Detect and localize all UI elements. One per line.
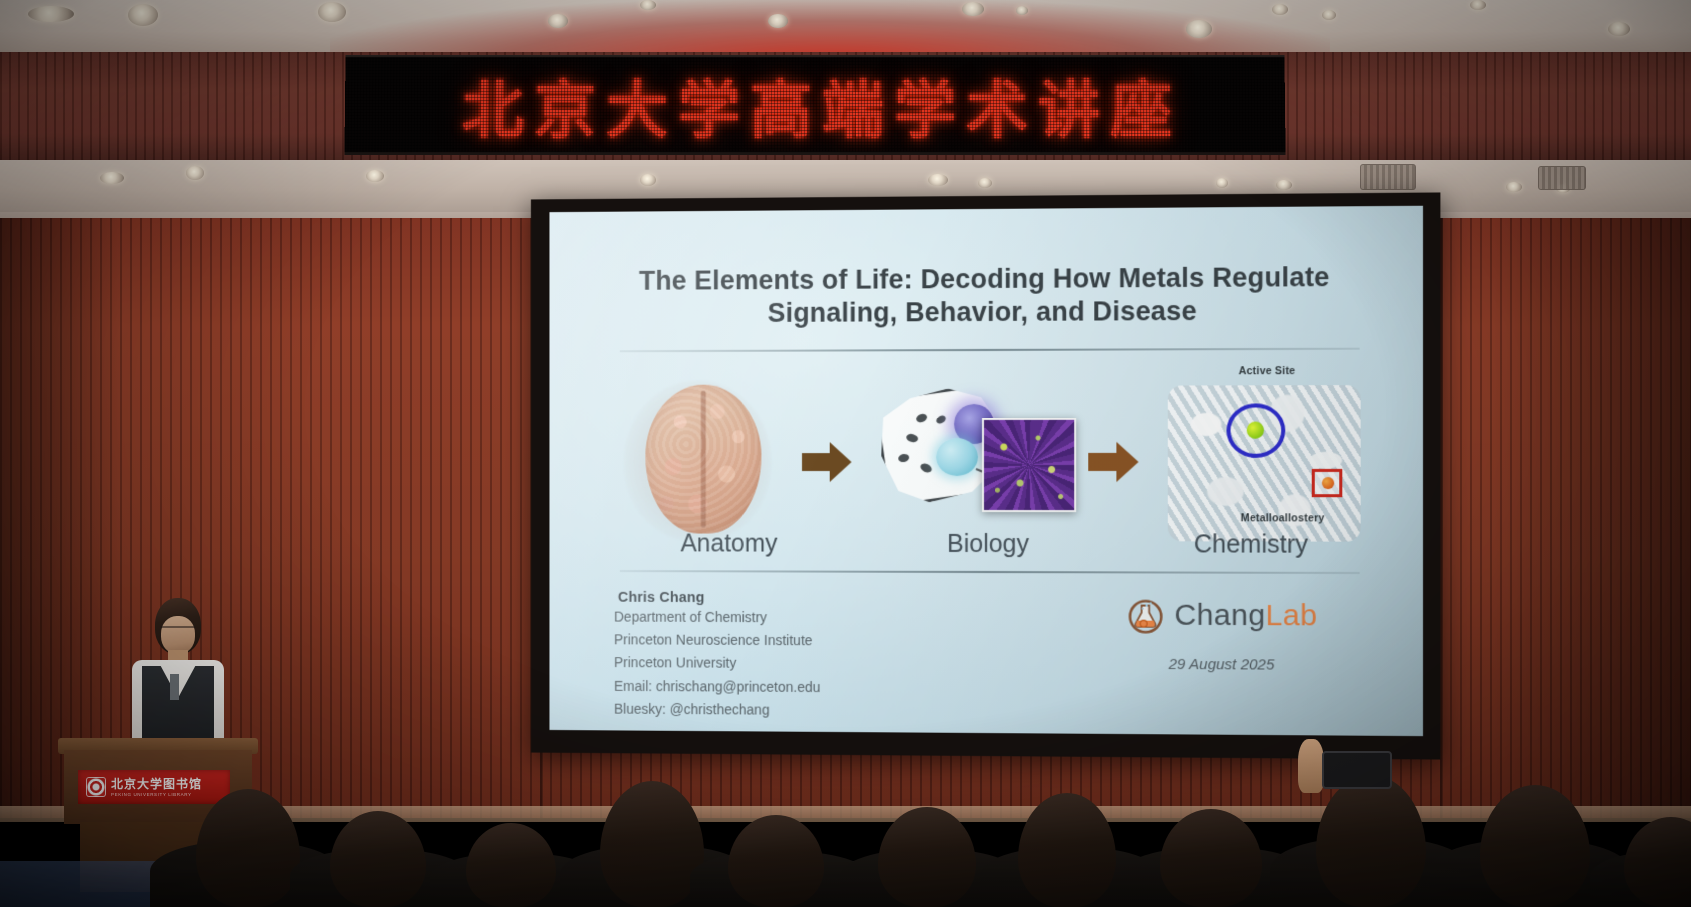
slide-title-line-1: The Elements of Life: Decoding How Metal… [587,261,1385,298]
speaker-face [161,616,195,654]
metalloallostery-label: Metalloallostery [1241,512,1325,524]
ceiling-light [28,6,74,22]
downlight [640,174,656,186]
slide-title: The Elements of Life: Decoding How Metal… [587,261,1385,331]
projected-slide: The Elements of Life: Decoding How Metal… [549,206,1423,736]
ceiling-light [768,14,788,28]
ceiling-red-glow [330,0,1330,52]
audience-head [1316,775,1426,907]
ceiling-vent [1538,166,1586,190]
ceiling-light [962,2,984,16]
speaker-email: Email: chrischang@princeton.edu [614,675,1070,701]
audience-head [1160,809,1262,907]
caption-biology: Biology [863,529,1113,558]
downlight [1276,180,1292,190]
speaker-department: Department of Chemistry [614,606,1070,631]
speaker-name: Chris Chang [614,590,1070,607]
ceiling-light [1322,10,1336,20]
audience-silhouettes [0,727,1691,907]
audience-head [878,807,976,907]
downlight [1216,178,1228,188]
brand-name-chang: Chang [1174,599,1265,633]
panel-anatomy-figure [634,375,782,549]
allosteric-metal-ion [1322,477,1334,489]
ceiling-light [1016,6,1028,15]
speaker-glasses [160,626,196,634]
downlight [186,166,204,180]
ceiling-light [640,0,656,10]
arrow-right-icon [800,438,854,486]
presentation-date: 29 August 2025 [1169,656,1275,674]
audience-head [330,811,426,907]
active-site-label: Active Site [1239,365,1296,377]
projection-screen-frame: The Elements of Life: Decoding How Metal… [531,192,1440,759]
active-site-metal-ion [1247,422,1264,439]
ceiling-light [318,2,346,22]
audience-head [728,815,824,907]
speaker-institute: Princeton Neuroscience Institute [614,629,1070,654]
downlight [928,174,948,186]
changlab-wordmark: ChangLab [1174,599,1317,634]
ceiling-vent [1360,164,1416,190]
speaker-university: Princeton University [614,652,1070,678]
ceiling-light [548,14,568,28]
brain-icon [645,385,761,534]
lab-brand-block: ChangLab 29 August 2025 [1070,587,1374,719]
changlab-logo: ChangLab [1126,595,1317,636]
raised-hand [1298,739,1324,793]
ceiling-light [128,4,158,26]
caption-anatomy: Anatomy [606,529,852,558]
arrow-right-icon [1086,437,1140,485]
led-banner-text: 北京大学高端学术讲座 [345,60,1286,150]
audience-head [1624,817,1691,907]
downlight [978,178,992,188]
ceiling-light [1272,4,1288,15]
divider-bottom [620,570,1360,574]
panel-biology-figure [872,371,1067,551]
lecture-hall-scene: 北京大学高端学术讲座 The Elements of Life: Decodin… [0,0,1691,907]
ceiling-light [1470,0,1486,10]
ceiling-light [1608,22,1630,36]
speaker-bluesky: Bluesky: @christhechang [614,698,1070,724]
brand-name-lab: Lab [1265,599,1317,632]
audience-head [1480,785,1590,907]
downlight [1506,182,1522,192]
downlight [366,170,384,182]
vesicle-icon [936,438,978,476]
audience-head [466,823,556,907]
fluorescence-micrograph [982,417,1076,511]
phone-recording [1322,751,1392,789]
audience-head [1018,793,1116,907]
downlight [100,172,124,184]
audience-head [600,781,704,907]
audience-head [196,789,300,907]
divider-top [620,348,1360,353]
speaker-tie [170,674,179,700]
slide-title-line-2: Signaling, Behavior, and Disease [587,294,1385,331]
flask-icon [1126,595,1166,635]
caption-chemistry: Chemistry [1124,530,1378,560]
led-marquee-banner: 北京大学高端学术讲座 [344,55,1285,155]
slide-footer: Chris Chang Department of Chemistry Prin… [614,586,1374,720]
panel-captions: Anatomy Biology Chemistry [606,526,1378,561]
ceiling-light [1186,20,1212,38]
speaker-affiliation-block: Chris Chang Department of Chemistry Prin… [614,586,1070,718]
